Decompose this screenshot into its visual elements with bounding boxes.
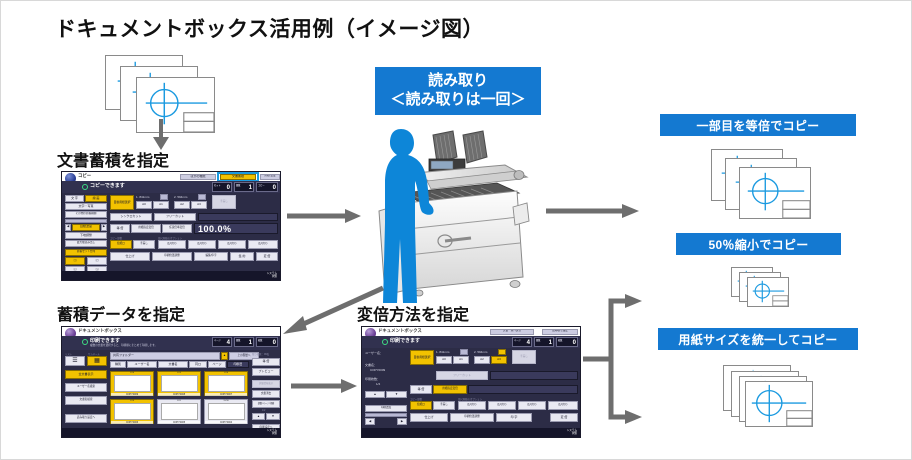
system-status-text-3: システム状態 — [567, 429, 577, 435]
btn-free-ratio[interactable]: 任意倍率変倍 — [162, 224, 192, 233]
docbox-zoom-status-text: 印刷できます — [390, 337, 420, 344]
btn-same-size-2[interactable]: 等 倍 — [252, 358, 280, 366]
counter-sheets-2: 枚数 0 — [556, 337, 578, 347]
btn-search-docname[interactable]: 文書名検索 — [65, 396, 107, 405]
panel-footer-2: システム状態 — [62, 428, 280, 437]
step3-label: 変倍方法を指定 — [357, 301, 469, 325]
view-list-icon[interactable]: ☰ — [65, 356, 85, 366]
page-nav-label: 1/2 — [262, 409, 265, 412]
page-down-icon[interactable]: ▼ — [266, 413, 280, 420]
counter-pages-2: ページ 4 — [512, 337, 532, 347]
density-right-arrow-icon-2[interactable]: ▶ — [397, 418, 407, 425]
copy-operation-panel[interactable]: コピー ほかの機能 文書蓄積 用紙/濃度 コピーできます セット 0 部数 1 … — [61, 171, 281, 281]
docbox-list-panel[interactable]: ドキュメントボックス 印刷できます 複数の文書を選択すると、印刷順にまとめて印刷… — [61, 326, 281, 438]
page-up-icon[interactable]: ▲ — [252, 413, 265, 420]
btn-copies-pages[interactable]: 部数/ページ/印刷 — [252, 400, 280, 408]
counter-sets-2: 部数 1 — [534, 337, 554, 347]
system-status-text: システム状態 — [267, 272, 277, 278]
paper-a0-b[interactable]: A0 — [436, 356, 452, 364]
remaining-sheets-label: 残り枚数：98枚 — [252, 352, 269, 356]
btn-free-cut[interactable]: フリーカット — [154, 213, 196, 221]
btn-long-cut-1b[interactable]: 長尺切り — [458, 401, 486, 410]
arrow-right-icon-1 — [287, 206, 363, 226]
density-left-arrow-icon[interactable]: ◀ — [65, 224, 71, 231]
docbox-zoom-panel[interactable]: ドキュメントボックス 文書一覧へ戻る 読み取り設定 印刷できます ページ 4 部… — [361, 326, 581, 438]
btn-original-text[interactable]: 文 字 — [65, 195, 84, 202]
bottom-tab-print[interactable]: 印 字 — [496, 413, 532, 422]
tab-scan-settings[interactable]: 読み取り設定 — [542, 329, 578, 336]
arrow-right-icon-2 — [546, 201, 641, 221]
roll-icon-1 — [160, 194, 168, 200]
cut-value-display — [198, 213, 278, 221]
output-1-banner: 一部目を等倍でコピー — [660, 114, 856, 136]
zoom-value-display: 100.0% — [194, 223, 278, 234]
paper-manual-feed-2[interactable]: 手差し — [512, 350, 536, 364]
btn-long-cut-2b[interactable]: 長尺切り — [488, 401, 516, 410]
btn-original-orientation[interactable]: 原稿セット方向 — [65, 249, 107, 256]
btn-original-line[interactable]: 線 画 — [85, 195, 107, 202]
paper-a2-b[interactable]: A2 — [474, 356, 490, 364]
counter-output: コピー 0 — [256, 182, 278, 192]
counter-set: セット 0 — [212, 182, 232, 192]
out3-sheet-4 — [745, 381, 813, 427]
output-2-sheet-stack — [731, 267, 789, 307]
thumb-page-preview — [114, 375, 151, 393]
folder-up-icon[interactable]: ▲ — [221, 352, 228, 360]
paper-a1-b[interactable]: A1 — [453, 356, 469, 364]
orientation-option-2[interactable]: ◰ — [87, 257, 107, 265]
btn-manual-tray-2[interactable]: 手差し — [433, 401, 455, 410]
btn-manual-tray[interactable]: 手差し — [133, 240, 155, 249]
sort-tab-id[interactable]: 同ロ — [189, 361, 207, 368]
sheet-front — [136, 77, 215, 133]
btn-long-cut-4[interactable]: 長尺切り — [248, 240, 278, 249]
counter-sheets: 枚数 0 — [256, 337, 278, 347]
paper-a2[interactable]: A2 — [174, 201, 190, 209]
paper-size-1b: 1. 841mm — [436, 350, 449, 354]
btn-same-size[interactable]: 等 倍 — [110, 224, 130, 233]
orientation-option-1[interactable]: ◳ — [65, 257, 85, 265]
person-silhouette-icon — [375, 127, 435, 305]
scan-banner-line2: ＜読み取りは一回＞ — [390, 91, 525, 110]
copy-app-title: コピー — [78, 173, 91, 179]
sort-tab-type[interactable]: 種別 — [110, 361, 126, 368]
folder-bar[interactable]: 共有フォルダー — [110, 352, 220, 360]
copy-panel-body: 文 字 線 画 文字・写真 その他の原稿種類 ◀ 自動濃度 ▶ 下地調整 最大幅… — [64, 194, 278, 271]
thumbnail-item-3[interactable]: 12/8 COPY0007 — [204, 371, 248, 396]
info-page-up-icon[interactable]: ▲ — [365, 391, 385, 398]
ready-indicator-icon-3 — [382, 339, 388, 345]
density-right-arrow-icon[interactable]: ▶ — [101, 224, 107, 231]
roll-icon-2 — [198, 194, 206, 200]
sort-tab-docname[interactable]: 文書名 — [158, 361, 188, 368]
btn-max-width-overflow[interactable]: 最大幅はみ出し — [65, 240, 107, 247]
btn-detail-info[interactable]: 詳細情報表示 — [252, 380, 280, 388]
info-sheets-label: 印刷枚数： — [365, 377, 380, 381]
roll-icon-1b — [460, 349, 468, 355]
btn-same-size-3[interactable]: 等 倍 — [410, 385, 432, 394]
page-title: ドキュメントボックス活用例（イメージ図） — [55, 13, 484, 43]
btn-background-adjust[interactable]: 下地調整 — [65, 232, 107, 239]
sort-tab-username[interactable]: ユーザー名 — [127, 361, 157, 368]
bottom-tab-print-position[interactable]: 印刷位置調整 — [152, 252, 192, 261]
docbox-zoom-app-title: ドキュメントボックス — [378, 328, 422, 334]
paper-manual-feed[interactable]: 手差し — [212, 195, 236, 209]
info-sheets-value: 1/4 — [376, 382, 380, 386]
paper-a3-b[interactable]: A3 — [491, 356, 507, 364]
paper-a3[interactable]: A3 — [191, 201, 207, 209]
step2-label: 蓄積データを指定 — [57, 301, 185, 325]
btn-auto-paper-select[interactable]: 自動用紙選択 — [110, 195, 134, 210]
scan-banner: 読み取り ＜読み取りは一回＞ — [375, 67, 541, 115]
out1-sheet-front — [739, 167, 811, 219]
btn-paper-ratio[interactable]: 用紙指定変倍 — [131, 224, 161, 233]
paper-a1[interactable]: A1 — [153, 201, 169, 209]
bottom-tab-zoom-2[interactable]: 変 倍 — [550, 413, 578, 422]
roll-icon-2b — [498, 349, 506, 355]
scan-banner-line1: 読み取り — [428, 72, 488, 91]
btn-paper-ratio-2[interactable]: 用紙指定変倍 — [433, 385, 467, 394]
density-slider-2[interactable] — [365, 413, 407, 417]
tab-back-to-list[interactable]: 文書一覧へ戻る — [490, 329, 534, 336]
info-page-down-icon[interactable]: ▼ — [386, 391, 407, 398]
btn-sync-cut[interactable]: シンクロカット — [110, 213, 152, 221]
bottom-tab-finishing-2[interactable]: 仕上げ — [410, 413, 448, 422]
ready-indicator-icon-2 — [82, 339, 88, 345]
counter-copies: 部数 1 — [234, 182, 254, 192]
btn-long-cut-3[interactable]: 長尺切り — [218, 240, 246, 249]
docbox-zoom-body: ユーザー名： 文書名： COPY0009 印刷枚数： 1/4 ▲ ▼ 印刷濃度 … — [364, 349, 578, 428]
bottom-tab-print-position-2[interactable]: 印刷位置調整 — [450, 413, 494, 422]
system-status-text-2: システム状態 — [267, 429, 277, 435]
btn-other-original-types[interactable]: その他の原稿種類 — [65, 211, 107, 218]
out2-sheet-front — [747, 277, 789, 307]
info-username-label: ユーザー名： — [365, 351, 383, 355]
density-slider[interactable] — [65, 219, 107, 223]
btn-original-text-photo[interactable]: 文字・写真 — [65, 203, 107, 210]
bottom-tab-zoom[interactable]: 変 倍 — [256, 252, 278, 261]
tab-paper-density[interactable]: 用紙/濃度 — [260, 174, 280, 181]
arrow-right-icon-3 — [291, 376, 359, 396]
view-thumbnail-icon[interactable]: ▦ — [87, 356, 107, 366]
btn-auto-paper-select-2[interactable]: 自動用紙選択 — [410, 350, 434, 365]
btn-preview[interactable]: プレビュー — [252, 368, 280, 376]
sort-tab-pages[interactable]: ページ — [208, 361, 226, 368]
btn-tray[interactable]: 給紙ロ — [110, 240, 132, 249]
thumbnail-item-6[interactable]: 11/30 COPY0004 — [204, 399, 248, 424]
btn-free-cut-2[interactable]: フリーカット — [436, 371, 488, 380]
output-1-sheet-stack — [711, 149, 811, 219]
output-3-banner: 用紙サイズを統一してコピー — [658, 328, 858, 350]
panel-footer: システム状態 — [62, 271, 280, 280]
copy-status-text: コピーできます — [90, 182, 125, 189]
bottom-tab-combine[interactable]: 集 約 — [230, 252, 254, 261]
paper-size-2b: 2. 594mm — [474, 350, 487, 354]
btn-search-username[interactable]: ユーザー名検索 — [65, 383, 107, 392]
btn-all-documents[interactable]: 全文書表示 — [65, 370, 107, 379]
arrow-branch-icon — [583, 291, 645, 426]
step1-label: 文書蓄積を指定 — [57, 147, 169, 171]
btn-delete-doc[interactable]: 文書消去 — [252, 390, 280, 398]
docbox-list-body: リスト サムネール ☰ ▦ 全文書表示 ユーザー名検索 文書名検索 読み取り設定… — [64, 352, 278, 428]
btn-long-cut-4b[interactable]: 長尺切り — [548, 401, 578, 410]
output-2-banner: 50％縮小でコピー — [676, 233, 841, 255]
docbox-status-sub: 複数の文書を選択すると、印刷順にまとめて印刷します。 — [90, 343, 157, 347]
btn-print-density[interactable]: 印刷濃度 — [365, 405, 407, 412]
density-left-arrow-icon-2[interactable]: ◀ — [365, 418, 375, 425]
counter-pages: ページ 4 — [212, 337, 232, 347]
info-docname-label: 文書名： — [365, 363, 377, 367]
ready-indicator-icon — [82, 184, 88, 190]
sort-tab-date[interactable]: 印刷日 — [227, 361, 249, 368]
thumbnail-item-1[interactable]: 12/8 COPY0009 — [110, 371, 154, 396]
cut-value-display-2 — [490, 371, 578, 380]
btn-auto-density[interactable]: 自動濃度 — [72, 224, 100, 231]
thumbnail-item-5[interactable]: 12/1 COPY0005 — [157, 399, 201, 424]
tab-other-functions[interactable]: ほかの機能 — [180, 174, 216, 181]
paper-size-2: 2. 594mm — [174, 195, 187, 199]
docbox-app-title: ドキュメントボックス — [78, 328, 122, 334]
btn-long-cut-2[interactable]: 長尺切り — [188, 240, 216, 249]
info-docname-value: COPY0009 — [370, 368, 385, 372]
btn-tray-2[interactable]: 給紙ロ — [410, 401, 432, 410]
thumbnail-item-4[interactable]: 12/8 COPY0006 — [110, 399, 154, 424]
counter-sets: 部数 1 — [234, 337, 254, 347]
diagram-canvas: ドキュメントボックス活用例（イメージ図） — [0, 0, 912, 460]
btn-long-cut-1[interactable]: 長尺切り — [158, 240, 186, 249]
panel-footer-3: システム状態 — [362, 428, 580, 437]
bottom-tab-finishing[interactable]: 仕上げ — [110, 252, 150, 261]
btn-long-cut-3b[interactable]: 長尺切り — [518, 401, 546, 410]
thumbnail-item-2[interactable]: 12/3 COPY0008 — [157, 371, 201, 396]
ratio-value-display — [468, 385, 578, 394]
output-3-sheet-stack — [723, 365, 813, 427]
paper-a0[interactable]: A0 — [136, 201, 152, 209]
btn-to-scan-settings[interactable]: 読み取り設定へ — [65, 414, 107, 423]
bottom-tab-edit-print[interactable]: 編集/印字 — [194, 252, 228, 261]
paper-size-1: 1. 841mm — [136, 195, 149, 199]
